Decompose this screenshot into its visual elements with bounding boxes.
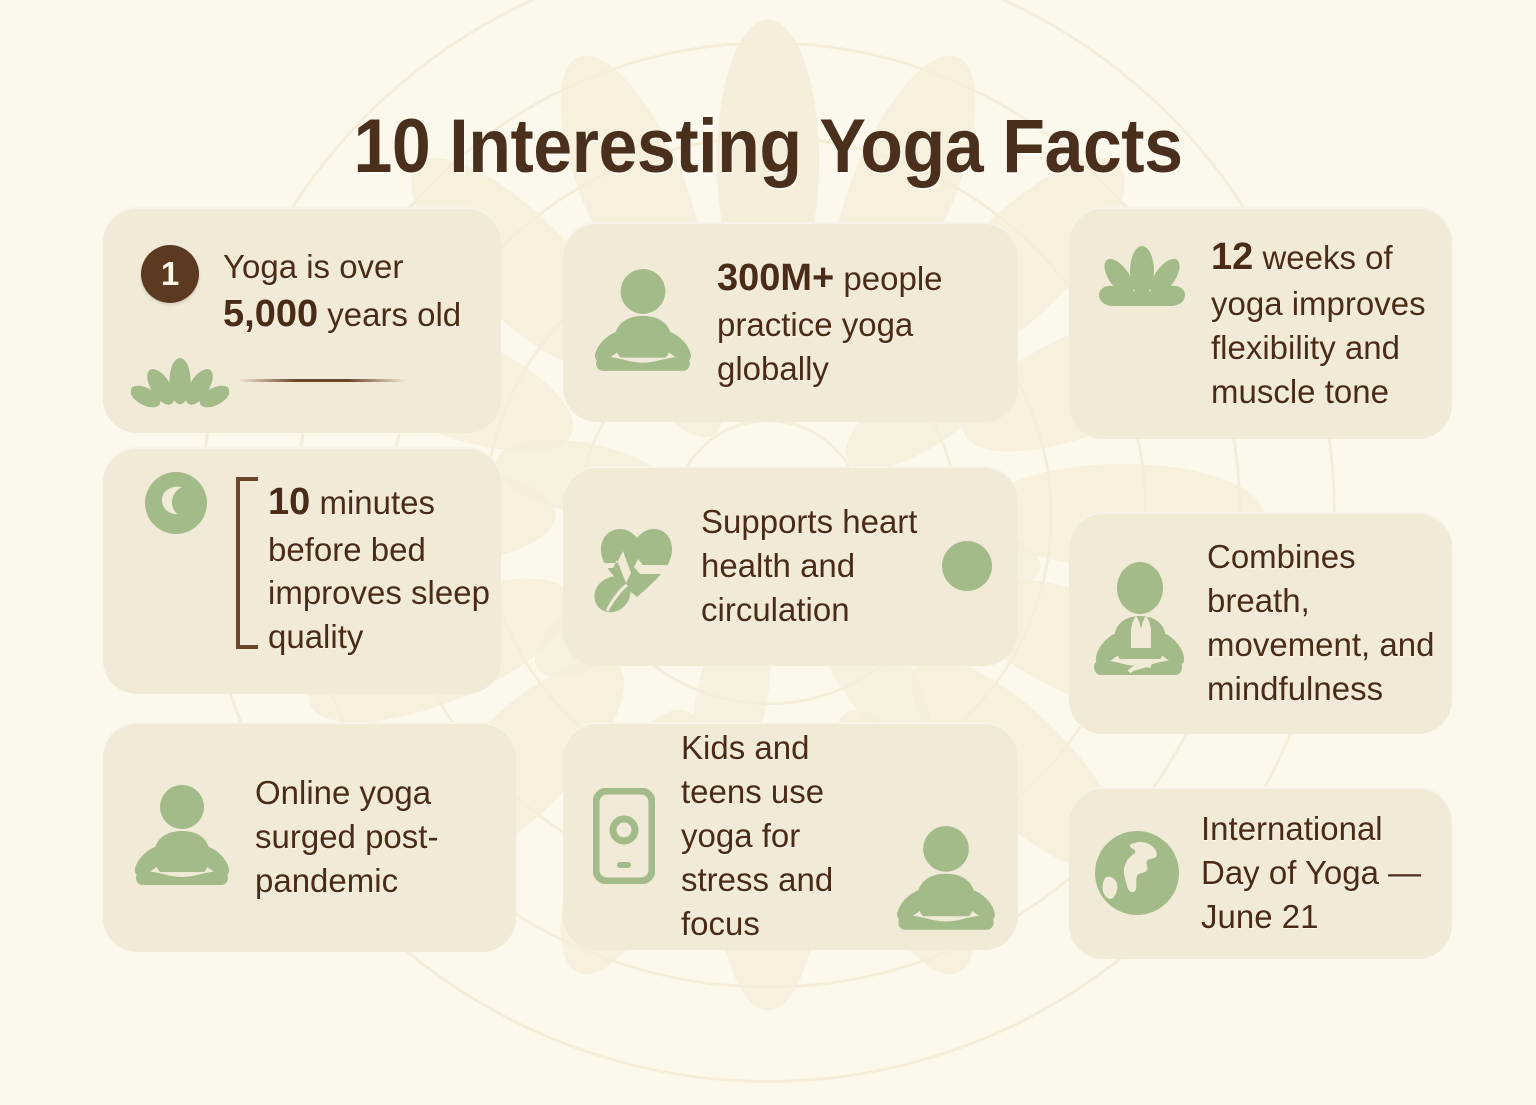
fact-text-kids: Kids and teens use yoga for stress and f… bbox=[681, 726, 886, 945]
fact-card-kids[interactable]: Kids and teens use yoga for stress and f… bbox=[563, 722, 1018, 950]
fact-weeks-highlight: 12 bbox=[1211, 236, 1253, 278]
fact-card-global[interactable]: 300M+ people practice yoga globally bbox=[563, 222, 1018, 422]
fact-text-breath: Combines breath, movement, and mindfulne… bbox=[1207, 535, 1436, 711]
fact-age-highlight: 5,000 bbox=[223, 293, 318, 335]
section-divider bbox=[238, 379, 406, 382]
fact-card-heart[interactable]: Supports heart health and circulation bbox=[563, 466, 1018, 666]
fact-age-line1: Yoga is over bbox=[223, 248, 403, 285]
fact-text-intl: International Day of Yoga — June 21 bbox=[1201, 807, 1434, 939]
green-dot-decoration bbox=[942, 541, 992, 591]
page-title: 10 Interesting Yoga Facts bbox=[61, 103, 1474, 190]
fact-text-age: Yoga is over 5,000 years old bbox=[223, 245, 461, 339]
fact-sleep-highlight: 10 bbox=[268, 481, 310, 523]
fact-text-global: 300M+ people practice yoga globally bbox=[717, 253, 996, 391]
fact-number-badge: 1 bbox=[141, 245, 199, 303]
meditating-person-icon bbox=[131, 783, 233, 891]
heart-leaf-pulse-icon bbox=[593, 511, 677, 621]
lotus-icon bbox=[1091, 245, 1193, 309]
globe-icon bbox=[1091, 827, 1183, 919]
fact-text-heart: Supports heart health and circulation bbox=[701, 500, 942, 632]
fact-card-online[interactable]: Online yoga surged post-pandemic bbox=[103, 722, 516, 952]
meditating-person-icon bbox=[591, 267, 695, 377]
fact-text-weeks: 12 weeks of yoga improves flexibility an… bbox=[1211, 232, 1432, 414]
meditating-namaste-icon bbox=[1091, 560, 1189, 686]
phone-icon bbox=[593, 788, 655, 884]
fact-card-intl[interactable]: International Day of Yoga — June 21 bbox=[1069, 787, 1452, 959]
fact-text-online: Online yoga surged post-pandemic bbox=[255, 771, 496, 903]
fact-text-sleep: 10 minutes before bed improves sleep qua… bbox=[268, 477, 490, 659]
moon-circle-icon bbox=[145, 472, 207, 534]
fact-age-line2: years old bbox=[318, 296, 461, 333]
meditating-person-icon bbox=[892, 824, 1000, 936]
fact-card-breath[interactable]: Combines breath, movement, and mindfulne… bbox=[1069, 512, 1452, 734]
fact-card-weeks[interactable]: 12 weeks of yoga improves flexibility an… bbox=[1069, 207, 1452, 439]
bracket-decoration bbox=[236, 477, 258, 649]
lotus-icon bbox=[131, 358, 229, 410]
fact-global-highlight: 300M+ bbox=[717, 257, 834, 299]
